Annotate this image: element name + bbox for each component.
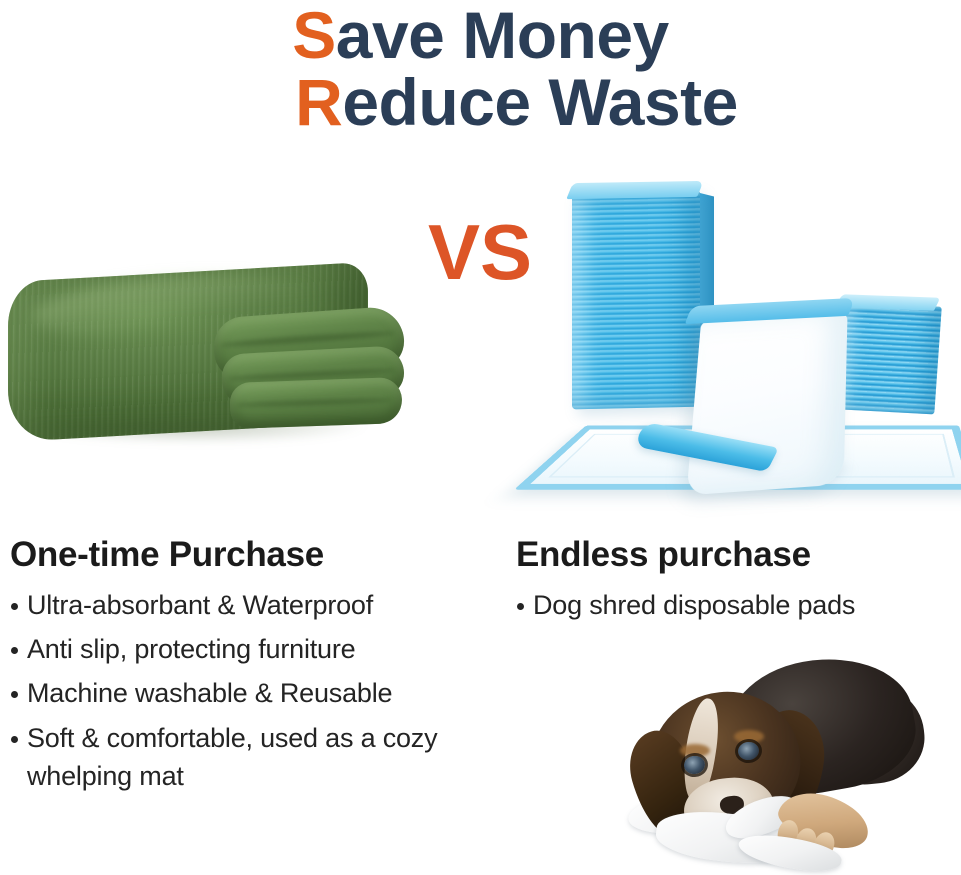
headline-line-2: Reduce Waste <box>0 69 961 136</box>
disposable-pads-image <box>540 176 961 506</box>
right-bullet-list: Dog shred disposable pads <box>516 586 954 624</box>
left-column-heading: One-time Purchase <box>10 536 502 574</box>
headline-block: Save Money Reduce Waste <box>0 2 961 137</box>
headline-line-1: Save Money <box>0 2 961 69</box>
versus-label: VS <box>428 213 532 291</box>
headline-line-2-text: educe Waste <box>342 65 738 139</box>
headline-initial-s: S <box>292 0 336 72</box>
right-bullet-1: Dog shred disposable pads <box>516 586 954 624</box>
right-pad-stack <box>836 302 942 415</box>
left-bullet-3: Machine washable & Reusable <box>10 674 502 712</box>
right-column-heading: Endless purchase <box>516 536 954 574</box>
green-blanket-image <box>8 272 412 468</box>
left-bullet-2: Anti slip, protecting furniture <box>10 630 502 668</box>
tall-pad-stack <box>572 189 700 410</box>
blanket-ground-shadow <box>26 422 366 444</box>
left-bullet-1: Ultra-absorbant & Waterproof <box>10 586 502 624</box>
puppy-photo <box>628 648 946 872</box>
right-feature-column: Endless purchase Dog shred disposable pa… <box>516 536 954 630</box>
tall-stack-top-face <box>566 181 703 199</box>
headline-line-1-text: ave Money <box>336 0 669 72</box>
left-bullet-list: Ultra-absorbant & Waterproof Anti slip, … <box>10 586 502 796</box>
left-feature-column: One-time Purchase Ultra-absorbant & Wate… <box>10 536 502 801</box>
left-bullet-4: Soft & comfortable, used as a cozy whelp… <box>10 719 502 796</box>
infographic-page: Save Money Reduce Waste VS One-time Purc… <box>0 0 961 875</box>
headline-initial-r: R <box>295 65 342 139</box>
